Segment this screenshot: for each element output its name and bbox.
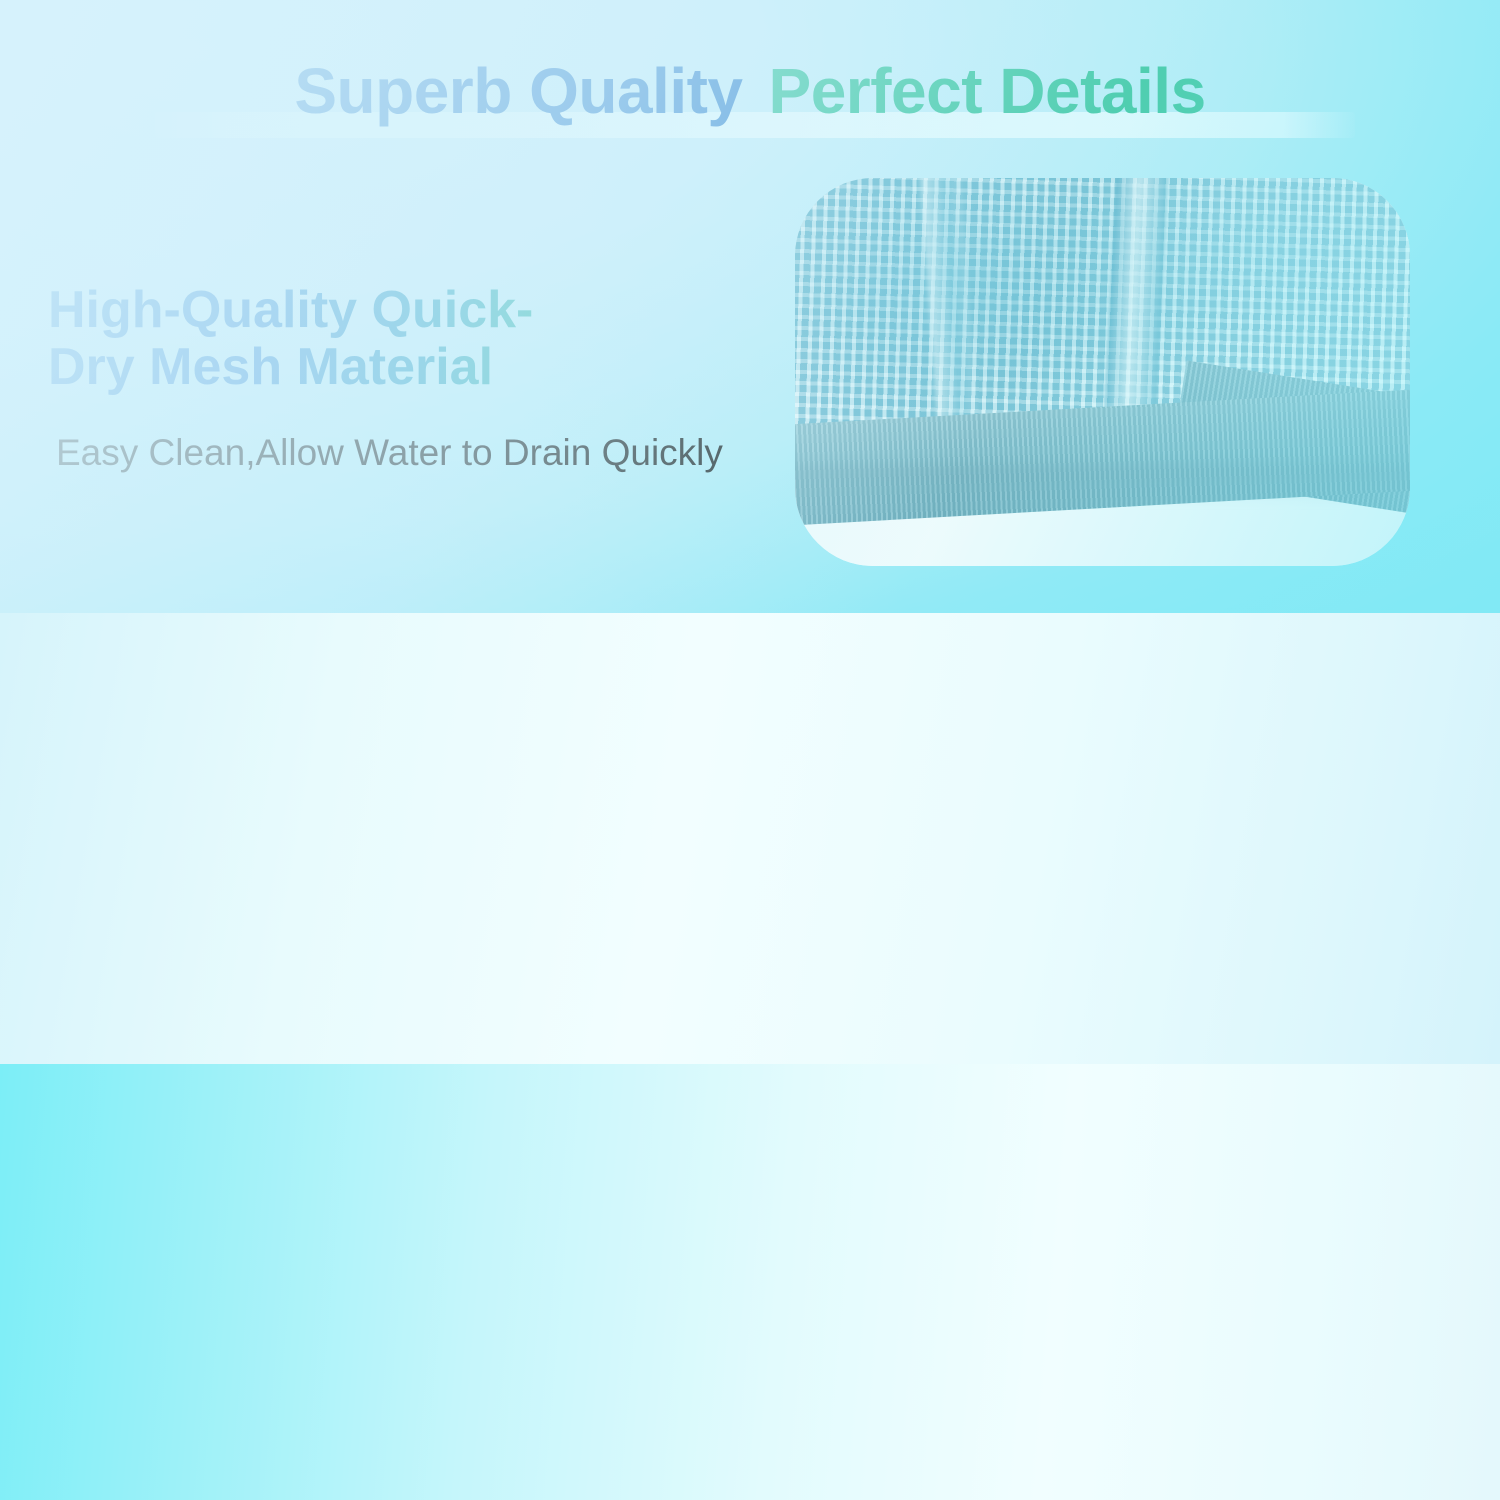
feature-section-handle: Reinforced Strong Handle Bear Weight Wit… bbox=[0, 613, 1500, 1064]
feature-heading-mesh: High-Quality Quick- Dry Mesh Material bbox=[48, 282, 748, 396]
photo-mesh-shadow bbox=[795, 465, 1410, 504]
infographic-page: Superb QualityPerfect Details High-Quali… bbox=[0, 0, 1500, 1500]
feature-section-sewing: Exquisite Sewing Workmanship Delicate an… bbox=[0, 1064, 1500, 1500]
photo-mesh-material bbox=[795, 178, 1410, 566]
title-part-blue: Superb Quality bbox=[294, 55, 742, 127]
title-part-green: Perfect Details bbox=[769, 55, 1206, 127]
page-title-text: Superb QualityPerfect Details bbox=[294, 54, 1205, 128]
feature-section-mesh: Superb QualityPerfect Details High-Quali… bbox=[0, 0, 1500, 613]
page-title: Superb QualityPerfect Details bbox=[0, 38, 1500, 143]
feature-subtitle-mesh: Easy Clean,Allow Water to Drain Quickly bbox=[48, 432, 748, 474]
feature-text-mesh: High-Quality Quick- Dry Mesh Material Ea… bbox=[48, 282, 748, 474]
